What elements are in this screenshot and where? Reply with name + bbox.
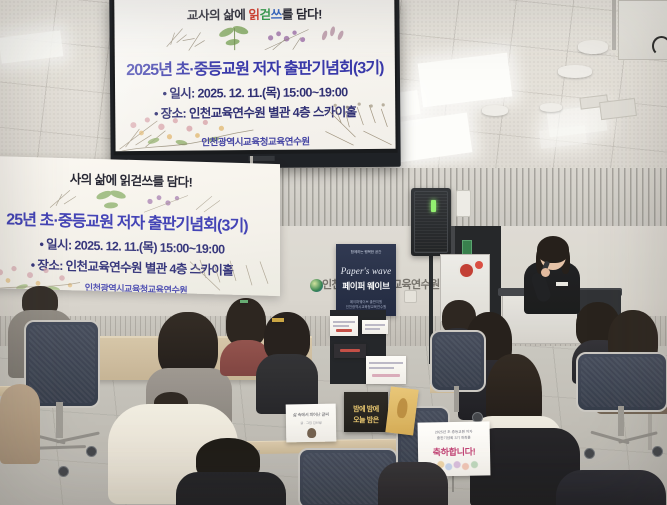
- headline-syllable-write: 쓰: [271, 8, 282, 22]
- banner-micro-text: 함께하는 행복한 공간: [336, 250, 396, 255]
- slide-headline: 교사의 삶에 읽걷쓰를 담다!: [114, 3, 394, 24]
- person-torso: [176, 472, 286, 505]
- person-torso: [0, 384, 40, 464]
- display-mini-card: [330, 316, 358, 336]
- congrats-headline: 축하합니다!: [418, 444, 490, 458]
- display-book-white: 삶 속에서 피어난 글씨 글 · 그림 김선생: [286, 404, 337, 443]
- speaker-power-led: [431, 200, 436, 212]
- congrats-subtext-line1: 2025년 초·중등교원 저자: [435, 430, 473, 435]
- slide-organizer: 인천광역시교육청교육연수원: [115, 133, 395, 149]
- display-mini-card: [362, 320, 388, 334]
- display-mini-card: [334, 344, 366, 358]
- projector-cable: [652, 36, 667, 56]
- projected-headline: 사의 삶에 읽걷쓰를 담다!: [0, 166, 280, 193]
- dark-display-sign: 밤에 밤에 오늘 밤은: [344, 392, 388, 432]
- dark-sign-line2: 오늘 밤은: [344, 415, 388, 425]
- slide-datetime: • 일시: 2025. 12. 11.(목) 15:00~19:00: [115, 81, 395, 102]
- slide-title: 2025년 초·중등교원 저자 출판기념회(3기): [115, 54, 395, 80]
- congrats-subtext: 2025년 초·중등교원 저자 출판기념회 3기 개최를: [418, 428, 490, 442]
- event-photo-scene: 교사의 삶에 읽걷쓰를 담다! 2025년 초·중등교원 저자 출판기념회(3기…: [0, 0, 667, 505]
- hair-clip-icon: [240, 300, 248, 303]
- paper-wave-banner: 함께하는 행복한 공간 Paper's wave 페이퍼 웨이브 페이퍼웨이브 …: [336, 244, 396, 316]
- chair-mesh: [29, 325, 95, 403]
- ceiling-dome-fixture: [578, 40, 608, 54]
- display-mini-card: [366, 356, 406, 384]
- tv-slide-content: 교사의 삶에 읽걷쓰를 담다! 2025년 초·중등교원 저자 출판기념회(3기…: [114, 0, 395, 151]
- chair-wheel: [584, 448, 595, 459]
- chair-wheel: [86, 446, 97, 457]
- chair-backrest: [430, 330, 486, 392]
- chair-wheel: [652, 446, 663, 457]
- projected-title: 25년 초·중등교원 저자 출판기념회(3기): [0, 205, 280, 238]
- banner-script-title: Paper's wave: [336, 266, 396, 276]
- card-text-line: [333, 321, 355, 323]
- book-cover-figure: [396, 397, 408, 418]
- card-accent-bar: [340, 349, 360, 352]
- ceiling-dome-fixture: [540, 103, 562, 112]
- headline-syllable-walk: 걷: [260, 8, 271, 22]
- presenter-hand: [541, 268, 550, 277]
- card-text-line: [333, 325, 349, 327]
- wall-outlet-plate: [404, 290, 417, 303]
- person-torso: [556, 470, 666, 505]
- presenter-hair: [537, 236, 569, 263]
- slide-location: • 장소: 인천교육연수원 별관 4층 스카이홀: [115, 101, 395, 122]
- dark-sign-line1: 밤에 밤에: [344, 404, 388, 414]
- person-torso: [378, 462, 448, 505]
- card-text-line: [365, 324, 385, 326]
- pa-speaker: [411, 188, 451, 256]
- banner-korean-title: 페이퍼 웨이브: [336, 280, 396, 292]
- display-book-gold: [385, 386, 418, 435]
- card-accent-bar: [336, 329, 352, 332]
- chair-wheel: [58, 466, 69, 477]
- emergency-button-icon[interactable]: [458, 262, 475, 279]
- wall-mounted-tv: 교사의 삶에 읽걷쓰를 담다! 2025년 초·중등교원 저자 출판기념회(3기…: [109, 0, 400, 169]
- chair-mesh: [581, 357, 663, 407]
- wall-speaker: [456, 190, 471, 217]
- headline-syllable-read: 읽: [248, 8, 259, 22]
- congrats-subtext-line2: 출판기념회 3기 개최를: [437, 436, 471, 441]
- card-text-line: [369, 367, 394, 369]
- card-text-line: [369, 362, 403, 364]
- projection-screen: 사의 삶에 읽걷쓰를 담다! 25년 초·중등교원 저자 출판기념회(3기) •…: [0, 156, 280, 296]
- indicator-light-icon: [475, 261, 483, 269]
- card-accent-bar: [372, 374, 400, 377]
- card-text-line: [365, 328, 380, 330]
- chair-backrest: [576, 352, 667, 412]
- hair-clip-icon: [272, 318, 284, 322]
- ceiling-dome-fixture: [482, 105, 508, 116]
- card-holder-stand: [452, 474, 454, 492]
- book-title: 삶 속에서 피어난 글씨: [286, 412, 336, 419]
- chair-mesh: [435, 335, 481, 387]
- book-subtitle: 글 · 그림 김선생: [286, 420, 336, 426]
- book-cover-illustration: [307, 428, 316, 438]
- projector-support-arm: [612, 0, 616, 50]
- ceiling-dome-fixture: [558, 65, 592, 78]
- tv-screen: 교사의 삶에 읽걷쓰를 담다! 2025년 초·중등교원 저자 출판기념회(3기…: [114, 0, 395, 151]
- botanical-decor-top: [160, 19, 350, 55]
- chair-post: [618, 406, 624, 436]
- presenter-name-badge: [556, 282, 568, 286]
- chair-post: [56, 402, 63, 438]
- person-hair: [226, 298, 266, 346]
- chair-post: [454, 386, 459, 412]
